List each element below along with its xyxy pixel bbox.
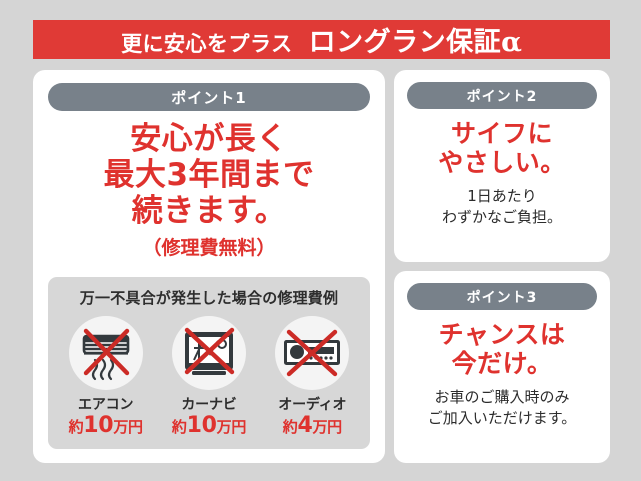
header-banner-text: 更に安心をプラス ロングラン保証 α — [121, 20, 522, 59]
price-unit: 万円 — [312, 418, 341, 436]
header-banner: 更に安心をプラス ロングラン保証 α — [33, 20, 610, 59]
price-prefix: 約 — [283, 418, 298, 436]
point-1-headline-line-1: 安心が長く — [33, 122, 385, 158]
point-2-headline-line-2: やさしい。 — [394, 148, 610, 177]
air-conditioner-icon — [69, 316, 143, 390]
price-number: 10 — [83, 413, 113, 438]
point-1-sub-note: （修理費無料） — [33, 233, 385, 260]
repair-item-label: カーナビ — [159, 394, 259, 414]
repair-item-car-audio: オーディオ 約4万円 — [262, 316, 362, 438]
price-unit: 万円 — [217, 418, 246, 436]
repair-item-price: 約10万円 — [159, 414, 259, 438]
point-3-headline: チャンスは 今だけ。 — [394, 320, 610, 378]
point-1-headline-line-2: 最大3年間まで — [33, 158, 385, 194]
car-audio-icon — [275, 316, 349, 390]
price-unit: 万円 — [113, 418, 142, 436]
repair-item-label: エアコン — [56, 394, 156, 414]
point-2-badge: ポイント2 — [407, 82, 597, 109]
repair-cost-title: 万一不具合が発生した場合の修理費例 — [48, 277, 370, 308]
point-2-headline-line-1: サイフに — [394, 119, 610, 148]
repair-cost-item-list: エアコン 約10万円 — [48, 316, 370, 438]
point-2-body-note: 1日あたり わずかなご負担。 — [394, 186, 610, 229]
point-2-headline: サイフに やさしい。 — [394, 119, 610, 177]
point-2-panel: ポイント2 サイフに やさしい。 1日あたり わずかなご負担。 — [394, 70, 610, 262]
point-3-badge: ポイント3 — [407, 283, 597, 310]
repair-item-price: 約4万円 — [262, 414, 362, 438]
point-1-badge: ポイント1 — [48, 83, 370, 111]
banner-main-title: ロングラン保証 — [309, 20, 502, 59]
point-3-body-note-line-2: ご加入いただけます。 — [394, 408, 610, 429]
advertisement-stage: 更に安心をプラス ロングラン保証 α ポイント1 安心が長く 最大3年間まで 続… — [0, 0, 641, 481]
repair-item-air-conditioner: エアコン 約10万円 — [56, 316, 156, 438]
point-3-body-note-line-1: お車のご購入時のみ — [394, 387, 610, 408]
point-1-panel: ポイント1 安心が長く 最大3年間まで 続きます。 （修理費無料） 万一不具合が… — [33, 70, 385, 463]
point-1-headline-line-3: 続きます。 — [33, 194, 385, 230]
point-3-body-note: お車のご購入時のみ ご加入いただけます。 — [394, 387, 610, 430]
point-3-headline-line-2: 今だけ。 — [394, 349, 610, 378]
point-3-headline-line-1: チャンスは — [394, 320, 610, 349]
point-2-body-note-line-1: 1日あたり — [394, 186, 610, 207]
car-navigation-icon — [172, 316, 246, 390]
point-3-panel: ポイント3 チャンスは 今だけ。 お車のご購入時のみ ご加入いただけます。 — [394, 271, 610, 463]
point-1-headline: 安心が長く 最大3年間まで 続きます。 — [33, 122, 385, 230]
banner-alpha-symbol: α — [501, 27, 522, 58]
repair-item-label: オーディオ — [262, 394, 362, 414]
price-number: 4 — [297, 413, 312, 438]
price-number: 10 — [187, 413, 217, 438]
price-prefix: 約 — [69, 418, 84, 436]
point-2-body-note-line-2: わずかなご負担。 — [394, 207, 610, 228]
banner-lead-text: 更に安心をプラス — [121, 28, 293, 58]
repair-cost-box: 万一不具合が発生した場合の修理費例 — [48, 277, 370, 449]
repair-item-car-navigation: カーナビ 約10万円 — [159, 316, 259, 438]
price-prefix: 約 — [172, 418, 187, 436]
repair-item-price: 約10万円 — [56, 414, 156, 438]
